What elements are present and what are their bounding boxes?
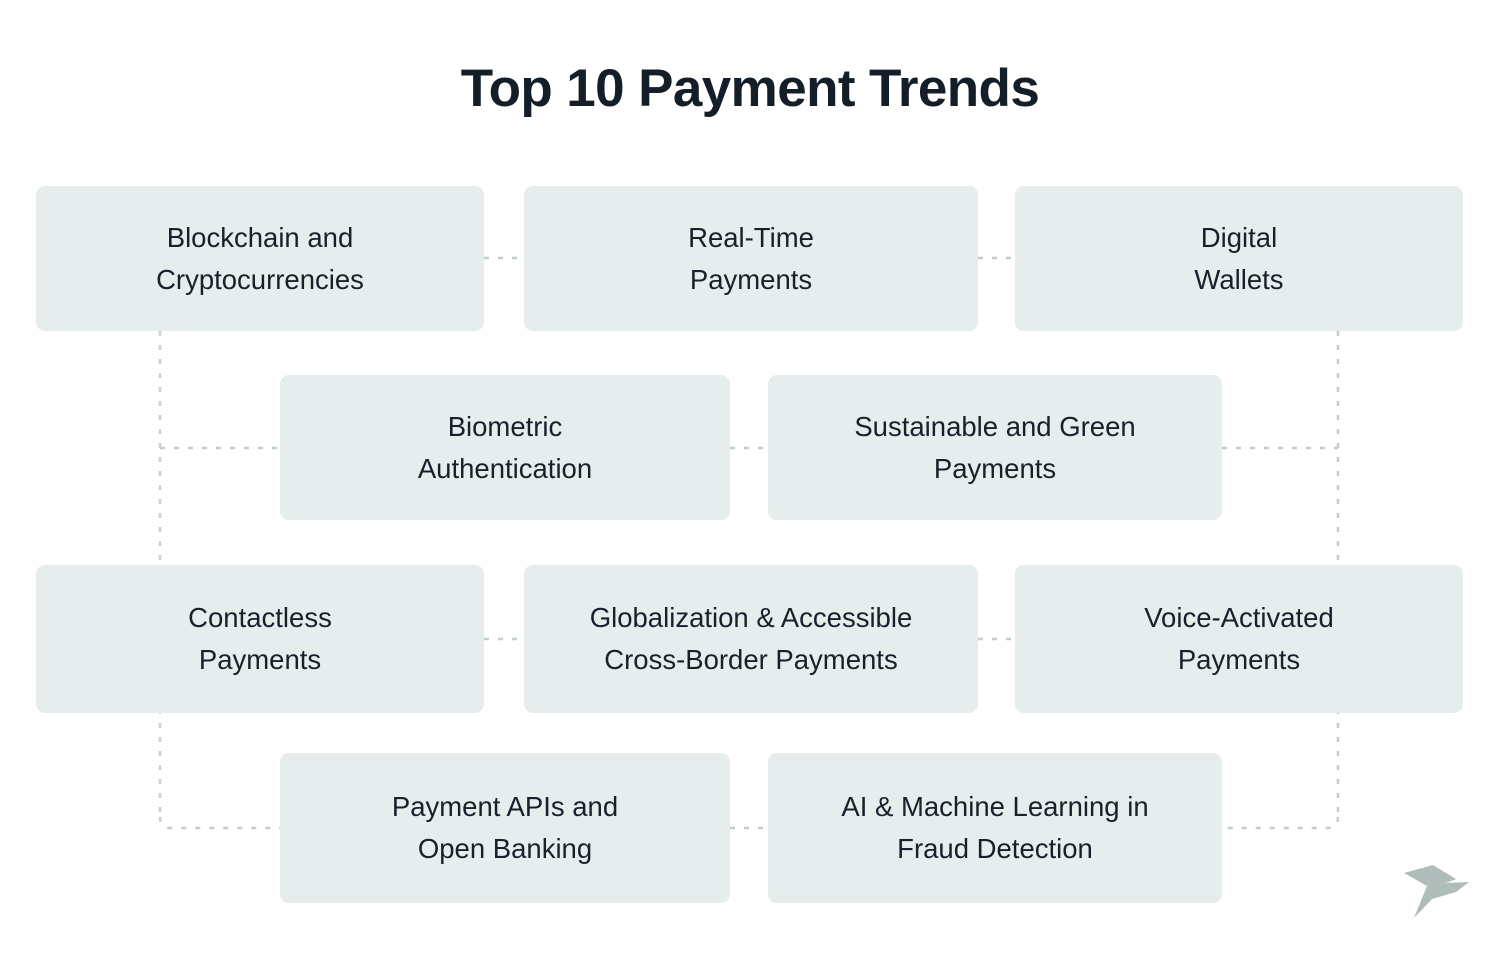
connector-lines	[0, 0, 1500, 960]
node-label: Digital Wallets	[1194, 217, 1283, 301]
node-contactless-payments[interactable]: Contactless Payments	[36, 565, 484, 713]
node-label: Payment APIs and Open Banking	[392, 786, 618, 870]
node-biometric-authentication[interactable]: Biometric Authentication	[280, 375, 730, 520]
connector-right-elbow	[1222, 817, 1338, 828]
node-label: AI & Machine Learning in Fraud Detection	[841, 786, 1148, 870]
connector-left-elbow	[160, 817, 280, 828]
node-label: Voice-Activated Payments	[1144, 597, 1334, 681]
node-label: Biometric Authentication	[418, 406, 592, 490]
node-label: Blockchain and Cryptocurrencies	[156, 217, 364, 301]
node-voice-activated-payments[interactable]: Voice-Activated Payments	[1015, 565, 1463, 713]
node-real-time-payments[interactable]: Real-Time Payments	[524, 186, 978, 331]
node-payment-apis-and-open-banking[interactable]: Payment APIs and Open Banking	[280, 753, 730, 903]
node-sustainable-and-green-payments[interactable]: Sustainable and Green Payments	[768, 375, 1222, 520]
node-blockchain-and-cryptocurrencies[interactable]: Blockchain and Cryptocurrencies	[36, 186, 484, 331]
node-label: Real-Time Payments	[688, 217, 814, 301]
node-label: Sustainable and Green Payments	[854, 406, 1135, 490]
node-label: Contactless Payments	[188, 597, 332, 681]
origami-bird-logo	[1386, 852, 1472, 928]
node-globalization-accessible-cross-border-payments[interactable]: Globalization & Accessible Cross-Border …	[524, 565, 978, 713]
node-ai-machine-learning-in-fraud-detection[interactable]: AI & Machine Learning in Fraud Detection	[768, 753, 1222, 903]
node-digital-wallets[interactable]: Digital Wallets	[1015, 186, 1463, 331]
node-label: Globalization & Accessible Cross-Border …	[590, 597, 913, 681]
diagram-canvas: Top 10 Payment Trends Blo	[0, 0, 1500, 960]
